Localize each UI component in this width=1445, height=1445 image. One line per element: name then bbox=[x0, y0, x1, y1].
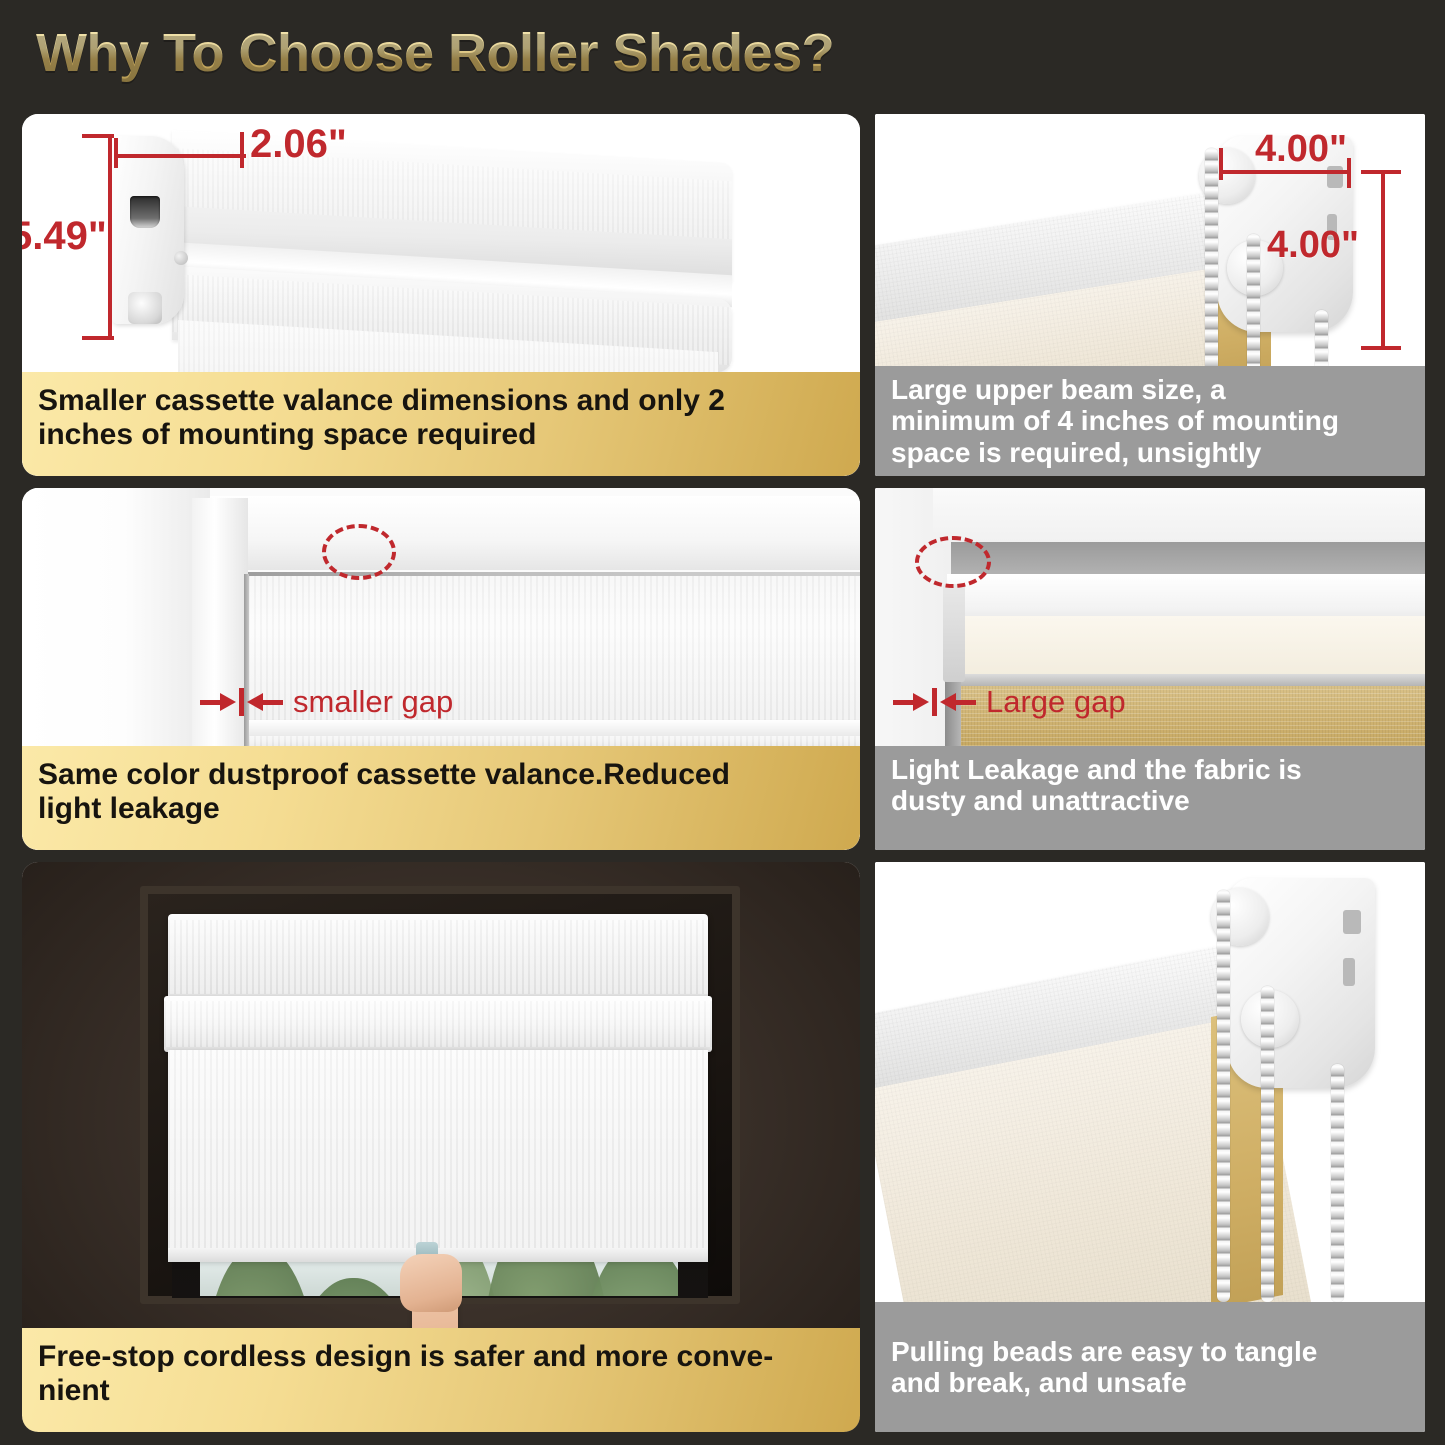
annotation-smaller-gap: smaller gap bbox=[200, 684, 453, 720]
caption-pro-smaller-gap: Same color dustproof cassette valance.Re… bbox=[22, 746, 860, 850]
caption-con-large-beam: Large upper beam size, a minimum of 4 in… bbox=[875, 366, 1425, 476]
page-title: Why To Choose Roller Shades? bbox=[36, 22, 834, 84]
highlight-circle-icon bbox=[322, 524, 396, 580]
dimension-label-height: 4.00" bbox=[1267, 224, 1359, 267]
screw-icon bbox=[174, 251, 188, 265]
caption-line: Smaller cassette valance dimensions and … bbox=[38, 384, 844, 418]
bead-chain bbox=[1331, 1064, 1344, 1302]
panel-con-large-beam[interactable]: 4.00" 4.00" Large upper beam size, a min… bbox=[875, 114, 1425, 476]
caption-line: Same color dustproof cassette valance.Re… bbox=[38, 758, 844, 792]
caption-line: Pulling beads are easy to tangle bbox=[891, 1336, 1409, 1367]
annotation-large-gap: Large gap bbox=[893, 684, 1126, 720]
caption-pro-cassette-dimensions: Smaller cassette valance dimensions and … bbox=[22, 372, 860, 476]
mounting-bracket-icon bbox=[943, 584, 965, 682]
panel-pro-cassette-dimensions[interactable]: 2.06" 5.49" Smaller cassette valance dim… bbox=[22, 114, 860, 476]
caption-con-pulling-beads: Pulling beads are easy to tangle and bre… bbox=[875, 1328, 1425, 1432]
dimension-label-height: 5.49" bbox=[22, 214, 107, 259]
caption-line: and break, and unsafe bbox=[891, 1367, 1409, 1398]
bead-chain bbox=[1205, 148, 1218, 388]
caption-line: dusty and unattractive bbox=[891, 785, 1409, 816]
gap-label: smaller gap bbox=[293, 684, 453, 720]
panel-con-pulling-beads[interactable]: Pulling beads are easy to tangle and bre… bbox=[875, 862, 1425, 1432]
bead-chain bbox=[1217, 890, 1230, 1302]
panel-con-large-gap[interactable]: Large gap Light Leakage and the fabric i… bbox=[875, 488, 1425, 850]
dimension-label-width: 4.00" bbox=[1255, 128, 1347, 171]
caption-line: space is required, unsightly bbox=[891, 437, 1409, 468]
valance-slot-icon bbox=[130, 196, 160, 228]
gap-label: Large gap bbox=[986, 684, 1126, 720]
caption-line: Free-stop cordless design is safer and m… bbox=[38, 1340, 844, 1374]
panel-pro-cordless-design[interactable]: Free-stop cordless design is safer and m… bbox=[22, 862, 860, 1432]
caption-line: nient bbox=[38, 1374, 844, 1408]
dimension-label-width: 2.06" bbox=[250, 122, 347, 167]
panel-pro-smaller-gap[interactable]: smaller gap Same color dustproof cassett… bbox=[22, 488, 860, 850]
caption-con-large-gap: Light Leakage and the fabric is dusty an… bbox=[875, 746, 1425, 850]
mount-screw-icon bbox=[128, 292, 162, 324]
infographic-page: Why To Choose Roller Shades? 2.06" bbox=[0, 0, 1445, 1445]
caption-line: light leakage bbox=[38, 792, 844, 826]
caption-line: Light Leakage and the fabric is bbox=[891, 754, 1409, 785]
caption-line: minimum of 4 inches of mounting bbox=[891, 405, 1409, 436]
caption-pro-cordless-design: Free-stop cordless design is safer and m… bbox=[22, 1328, 860, 1432]
caption-line: Large upper beam size, a bbox=[891, 374, 1409, 405]
bead-chain bbox=[1261, 986, 1274, 1302]
comparison-grid: 2.06" 5.49" Smaller cassette valance dim… bbox=[0, 108, 1445, 1438]
highlight-circle-icon bbox=[915, 536, 991, 588]
hand-fist bbox=[400, 1254, 462, 1312]
caption-line: inches of mounting space required bbox=[38, 418, 844, 452]
